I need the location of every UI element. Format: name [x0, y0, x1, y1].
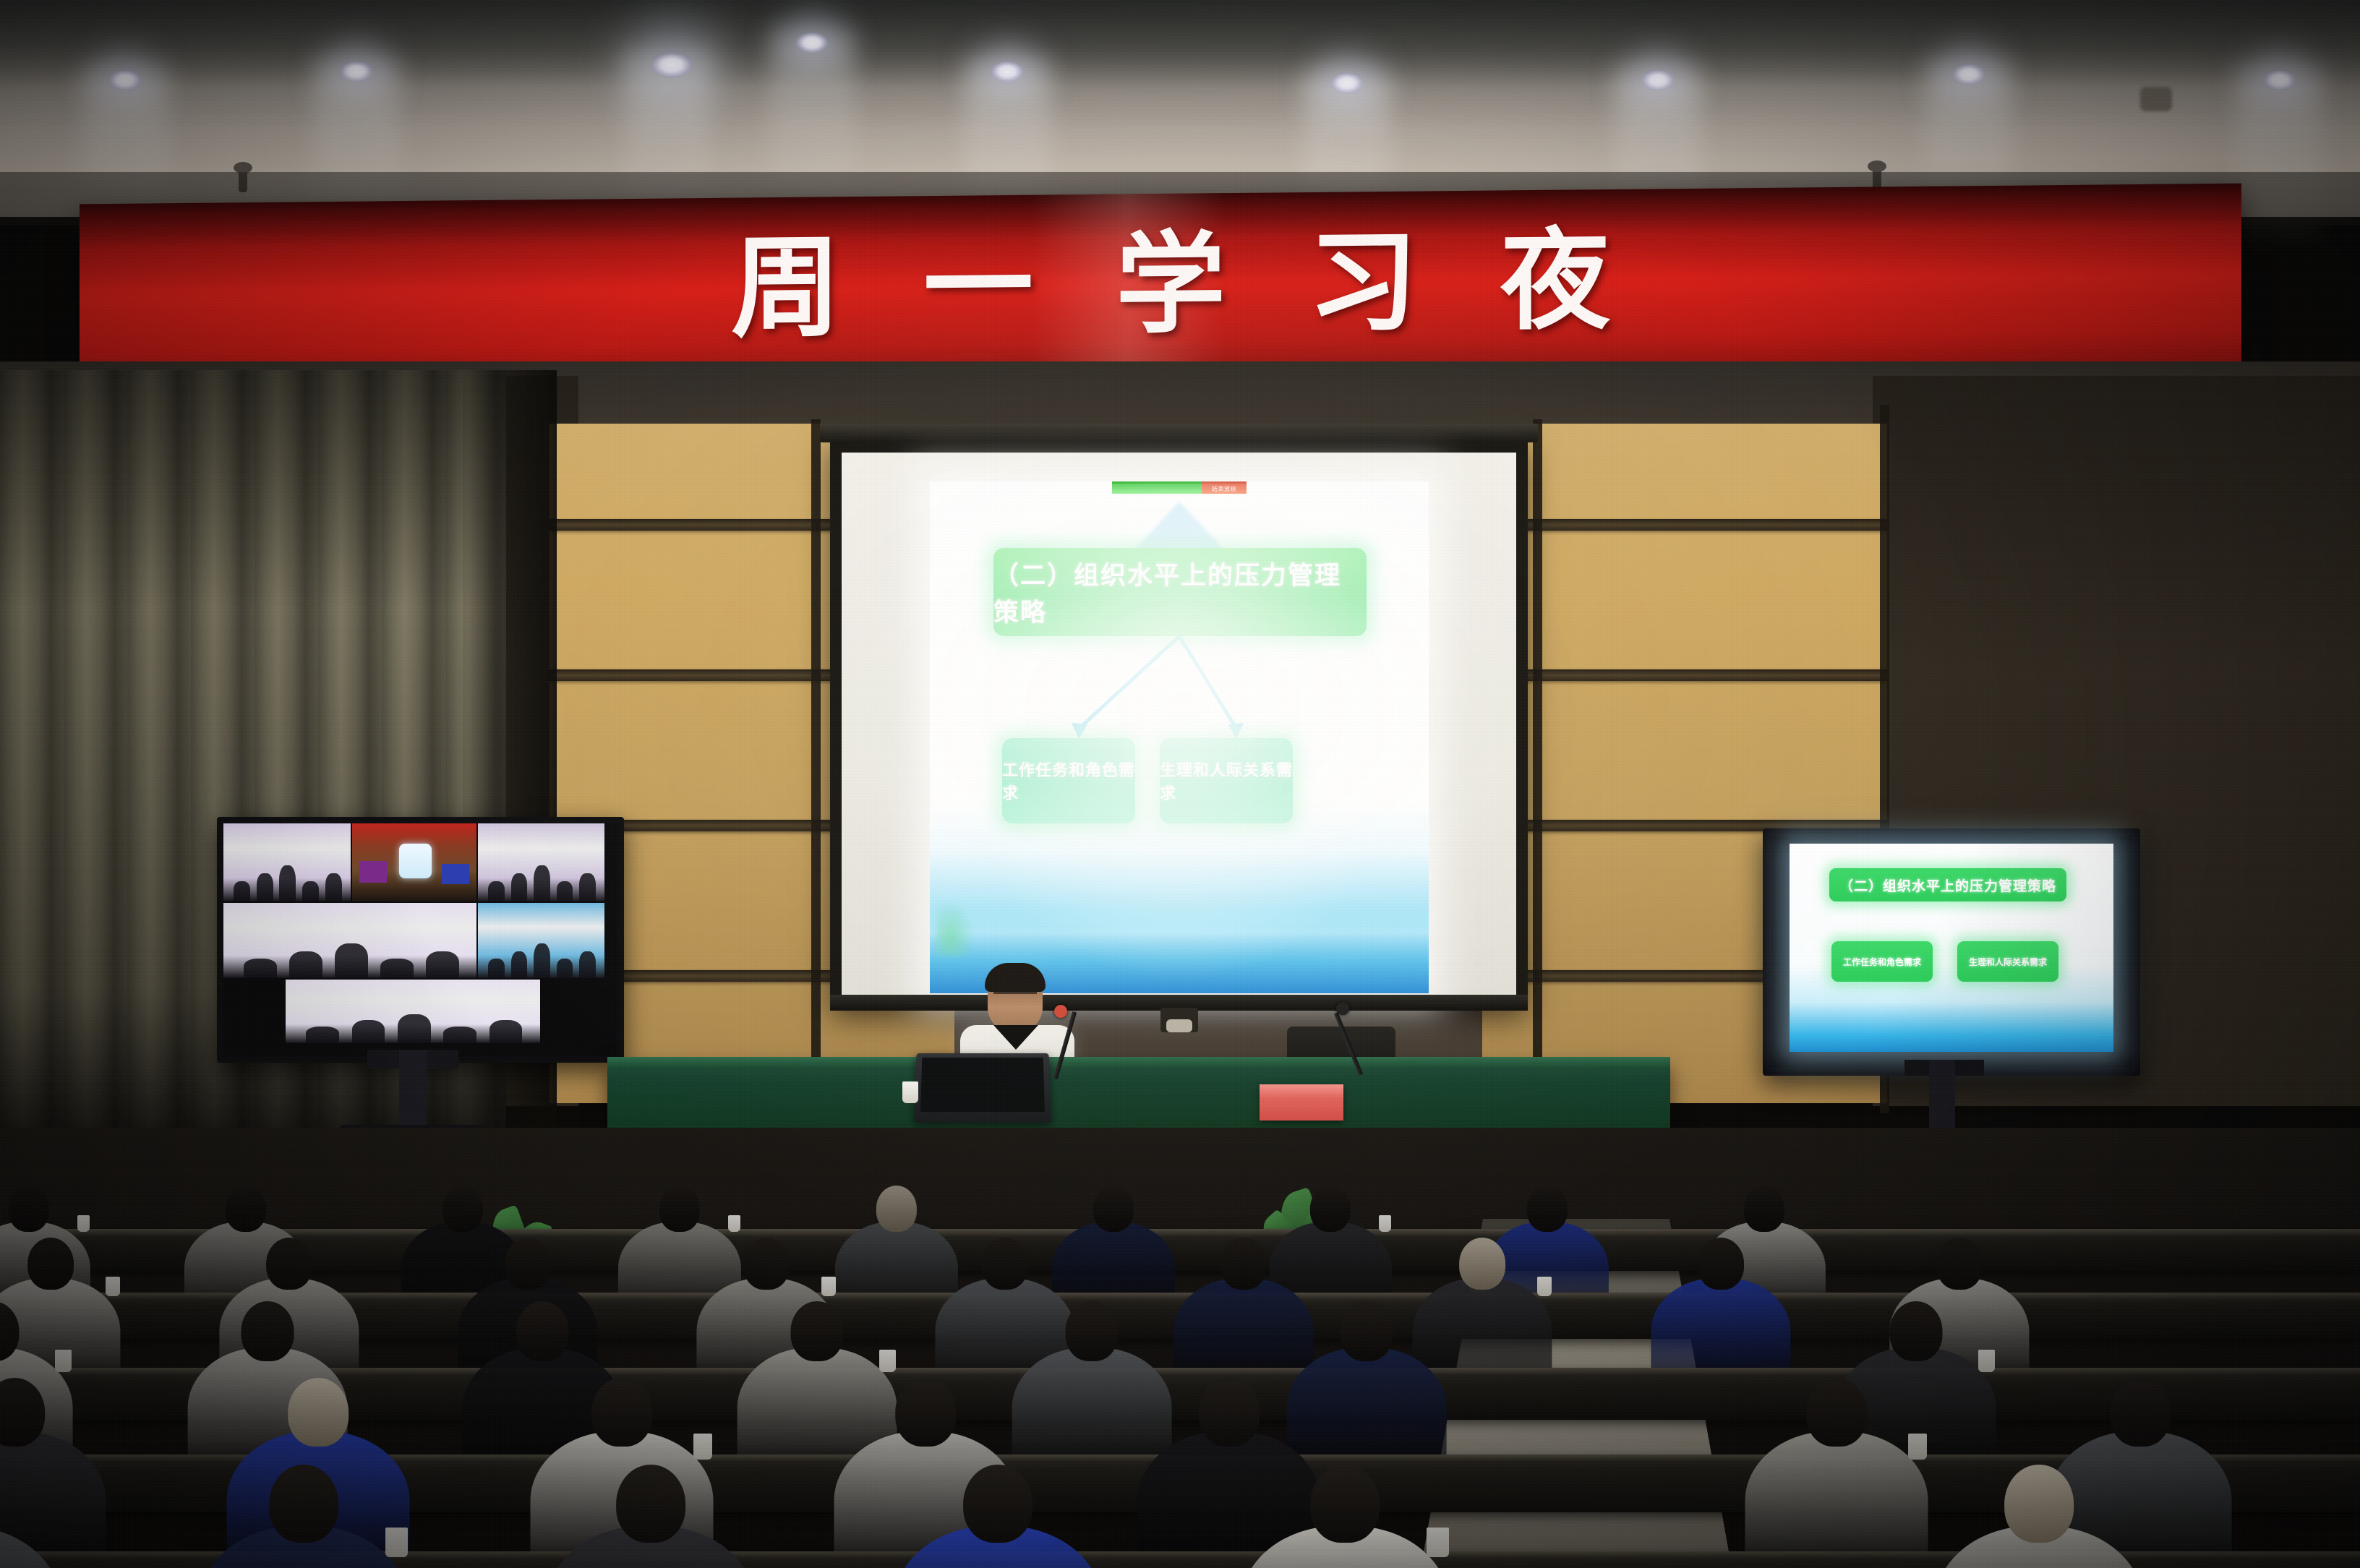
multiview-tile-5[interactable] — [286, 980, 540, 1043]
presenter-name-placard — [1260, 1084, 1343, 1121]
audience-paper-cup — [728, 1215, 741, 1233]
ceiling-downlight-2 — [651, 52, 693, 78]
audience-person-torso — [0, 1526, 61, 1568]
tv-slide-branch-1: 工作任务和角色需求 — [1831, 941, 1933, 982]
audience-person-head — [982, 1238, 1028, 1290]
audience-person-head — [659, 1186, 700, 1232]
slide-branch-box-1: 工作任务和角色需求 — [1002, 738, 1135, 823]
laptop-screen — [920, 1058, 1045, 1112]
slide-foliage-graphic — [936, 899, 973, 956]
multiview-tile-1[interactable] — [352, 823, 476, 901]
second-microphone-head-icon — [1336, 1002, 1349, 1015]
audience-person-head — [241, 1301, 294, 1361]
conference-hall-scene: 周一学习夜 结束放映 — [0, 0, 2360, 1568]
audience-paper-cup — [1379, 1215, 1392, 1233]
audience-person-head — [1698, 1238, 1744, 1290]
projection-screen-surface: 结束放映 （二）组织水平上的压力管理策略 工作任务和角色需求 生理和人际关系需求 — [842, 453, 1516, 996]
audience-paper-cup — [1978, 1350, 1995, 1372]
multiview-tile-1-screen — [399, 844, 432, 878]
ppt-playback-toolbar[interactable]: 结束放映 — [1112, 481, 1247, 494]
multiview-tile-feed-1 — [352, 823, 476, 901]
presenter-laptop[interactable] — [914, 1053, 1051, 1123]
audience-person — [199, 1465, 409, 1568]
audience-person-head — [1744, 1186, 1784, 1232]
ceiling-downlight-7 — [2263, 69, 2296, 91]
right-wall-tv[interactable]: （二）组织水平上的压力管理策略 工作任务和角色需求 生理和人际关系需求 — [1763, 828, 2140, 1076]
banner-char-4: 夜 — [1500, 225, 1612, 335]
wall-groove — [1482, 519, 1887, 531]
right-wall-tv-screen: （二）组织水平上的压力管理策略 工作任务和角色需求 生理和人际关系需求 — [1790, 844, 2113, 1052]
audience-paper-cup — [385, 1528, 407, 1556]
audience-paper-cup — [879, 1350, 896, 1372]
audience-person-head — [1199, 1378, 1260, 1447]
audience-paper-cup — [693, 1434, 712, 1459]
desk-edge — [0, 1229, 2360, 1236]
head-table-edge — [607, 1057, 1670, 1067]
ceiling-downlight-5 — [1641, 69, 1675, 91]
slide-title-box: （二）组织水平上的压力管理策略 — [993, 548, 1367, 636]
ceiling-downlight-0 — [108, 69, 142, 91]
multiview-tile-feed-2 — [478, 823, 604, 901]
presenter-glasses-icon — [993, 992, 1037, 1003]
audience-person-head — [1310, 1465, 1380, 1543]
video-conference-multiview-monitor[interactable] — [217, 817, 624, 1063]
audience-person-head — [1459, 1238, 1505, 1290]
audience-person-head — [27, 1238, 74, 1290]
multiview-tile-feed-3 — [223, 903, 476, 978]
audience-person-head — [269, 1465, 338, 1543]
audience-paper-cup — [77, 1215, 90, 1233]
audience-person — [1240, 1465, 1450, 1568]
banner-char-1: 一 — [923, 231, 1035, 341]
audience-person — [0, 1465, 61, 1568]
presenter-paper-cup — [902, 1081, 918, 1103]
audience-person-head — [1527, 1186, 1568, 1232]
audience-person-head — [1806, 1378, 1867, 1447]
tv-slide-branch-2: 生理和人际关系需求 — [1957, 941, 2058, 982]
audience-person-head — [505, 1238, 551, 1290]
audience-paper-cup — [1537, 1277, 1552, 1296]
ceiling-downlight-4 — [1330, 72, 1364, 94]
audience-person-head — [1220, 1238, 1267, 1290]
audience-paper-cup — [106, 1277, 120, 1296]
audience-person-head — [9, 1186, 49, 1232]
audience-paper-cup — [55, 1350, 72, 1372]
audience-person-head — [1341, 1301, 1393, 1361]
multiview-tile-feed-4 — [478, 903, 604, 978]
banner-char-0: 周 — [731, 232, 842, 343]
multiview-tile-0[interactable] — [223, 823, 351, 901]
audience-paper-cup — [1908, 1434, 1927, 1459]
audience-person-head — [876, 1186, 917, 1232]
audience-person-head — [516, 1301, 569, 1361]
audience-person-head — [0, 1378, 45, 1447]
tv-slide-title-box: （二）组织水平上的压力管理策略 — [1829, 868, 2066, 901]
audience-person-head — [743, 1238, 790, 1290]
audience-person — [1934, 1465, 2144, 1568]
audience-person-head — [963, 1465, 1032, 1543]
banner-text: 周一学习夜 — [80, 184, 2241, 385]
banner-char-3: 习 — [1308, 227, 1419, 338]
audience-person-head — [895, 1378, 956, 1447]
audience-person-head — [1093, 1186, 1134, 1232]
banner-char-2: 学 — [1116, 228, 1227, 339]
audience-person-head — [288, 1378, 349, 1447]
multiview-tile-feed-0 — [223, 823, 351, 901]
audience-person-head — [2004, 1465, 2074, 1543]
presenter-hair — [985, 963, 1046, 992]
wall-groove — [1482, 669, 1887, 681]
audience-person-head — [591, 1378, 652, 1447]
multiview-monitor-stand-pole — [399, 1050, 427, 1129]
multiview-tile-feed-5 — [286, 980, 540, 1043]
wall-vertical-groove-right — [1533, 419, 1542, 1106]
ppt-end-show-button[interactable]: 结束放映 — [1202, 481, 1247, 494]
audience-person-head — [791, 1301, 844, 1361]
audience-person — [1745, 1378, 1928, 1568]
ceiling-downlight-6 — [1952, 64, 1985, 85]
multiview-tile-2[interactable] — [478, 823, 604, 901]
desk-edge — [0, 1368, 2360, 1375]
multiview-tile-3[interactable] — [223, 903, 476, 978]
ceiling-vent-icon — [2140, 87, 2172, 111]
audience-person-head — [226, 1186, 266, 1232]
audience-person-head — [1066, 1301, 1119, 1361]
multiview-tile-4[interactable] — [478, 903, 604, 978]
audience-person-head — [2110, 1378, 2171, 1447]
audience-person-head — [1936, 1238, 1983, 1290]
audience-person-head — [1890, 1301, 1943, 1361]
audience-person-head — [1310, 1186, 1351, 1232]
ceiling-downlight-1 — [340, 61, 373, 82]
ceiling-downlight-8 — [795, 32, 829, 53]
audience-person-torso — [1745, 1431, 1928, 1568]
slide-branch-box-2: 生理和人际关系需求 — [1160, 738, 1293, 823]
projection-screen: 结束放映 （二）组织水平上的压力管理策略 工作任务和角色需求 生理和人际关系需求 — [830, 440, 1528, 1011]
audience-person-head — [442, 1186, 483, 1232]
presentation-slide: 结束放映 （二）组织水平上的压力管理策略 工作任务和角色需求 生理和人际关系需求 — [930, 481, 1429, 993]
audience-paper-cup — [1427, 1528, 1448, 1556]
wall-vertical-groove-left — [811, 419, 821, 1106]
audience-person — [546, 1465, 756, 1568]
audience-person-head — [266, 1238, 312, 1290]
presenter-microphone-head-icon — [1054, 1005, 1067, 1018]
ppt-toolbar-green-segment[interactable] — [1112, 481, 1202, 494]
projection-screen-weight-bar — [1160, 1008, 1198, 1032]
audience-paper-cup — [821, 1277, 836, 1296]
audience-person-head — [616, 1465, 685, 1543]
audience-person — [893, 1465, 1103, 1568]
event-banner: 周一学习夜 — [80, 184, 2241, 385]
ceiling-downlight-3 — [991, 61, 1024, 82]
